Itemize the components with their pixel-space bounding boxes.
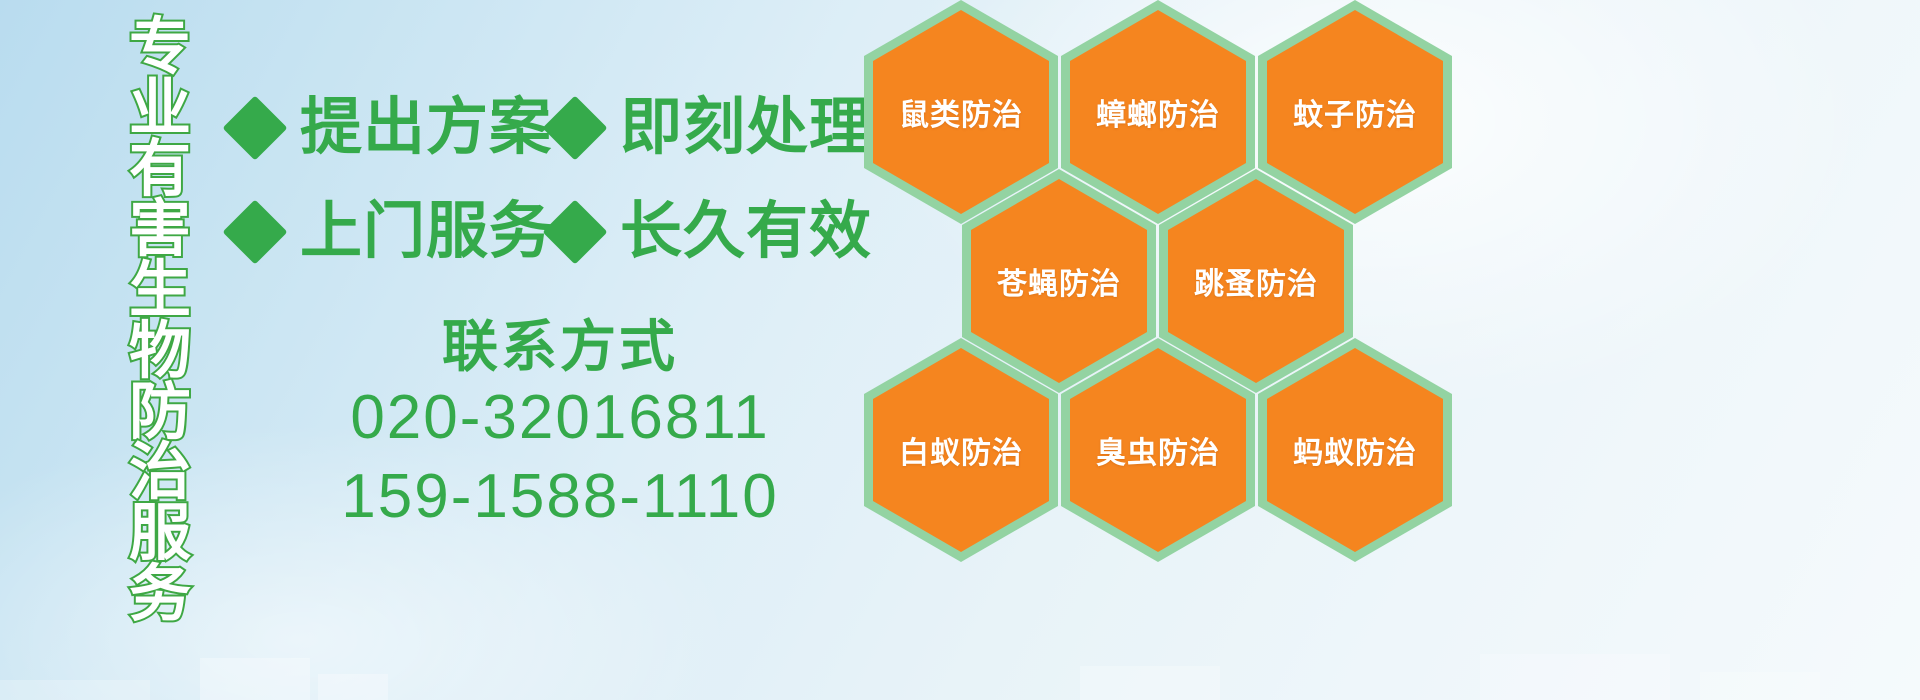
diamond-icon [542,199,607,264]
service-label: 鼠类防治 [899,90,1023,134]
service-label: 蟑螂防治 [1096,90,1220,134]
background-silhouette [1480,654,1670,700]
vertical-headline-char: 害 [129,200,191,261]
service-label: 跳蚤防治 [1194,259,1318,303]
feature-item: 上门服务 [232,201,552,263]
diamond-icon [542,95,607,160]
contact-title: 联系方式 [240,316,880,378]
vertical-headline-char: 治 [129,443,191,504]
service-label: 苍蝇防治 [997,259,1121,303]
feature-item: 提出方案 [232,97,552,159]
contact-block: 联系方式 020-32016811 159-1588-1110 [240,316,880,536]
background-silhouette [1700,672,1820,700]
feature-label: 上门服务 [300,201,552,263]
contact-phone-landline[interactable]: 020-32016811 [240,378,880,457]
feature-label: 长久有效 [620,201,872,263]
feature-row: 上门服务 长久有效 [232,180,872,284]
feature-row: 提出方案 即刻处理 [232,76,872,180]
service-label: 臭虫防治 [1096,428,1220,472]
vertical-headline-char: 业 [129,79,191,140]
feature-list: 提出方案 即刻处理 上门服务 长久有效 [232,76,872,284]
diamond-icon [222,95,287,160]
contact-phone-mobile[interactable]: 159-1588-1110 [240,457,880,536]
background-silhouette [1080,666,1220,700]
service-label: 蚊子防治 [1293,90,1417,134]
vertical-headline-char: 防 [129,383,191,444]
background-silhouette [318,674,388,700]
vertical-headline-char: 物 [129,322,191,383]
vertical-headline-char: 专 [129,18,191,79]
background-silhouette [200,658,310,700]
vertical-headline: 专 业 有 害 生 物 防 治 服 务 [112,18,208,658]
feature-item: 即刻处理 [552,97,872,159]
service-hexagon-grid: 鼠类防治 蟑螂防治 蚊子防治 苍蝇防治 跳蚤防治 白蚁防治 臭虫防治 蚂蚁 [858,0,1458,574]
vertical-headline-char: 生 [129,261,191,322]
diamond-icon [222,199,287,264]
service-label: 蚂蚁防治 [1293,428,1417,472]
feature-label: 即刻处理 [620,97,872,159]
vertical-headline-char: 有 [129,140,191,201]
feature-item: 长久有效 [552,201,872,263]
vertical-headline-char: 服 [129,504,191,565]
background-silhouette [0,680,150,700]
promo-banner: 专 业 有 害 生 物 防 治 服 务 提出方案 即刻处理 上门服务 [0,0,1920,700]
service-label: 白蚁防治 [899,428,1023,472]
vertical-headline-char: 务 [129,565,191,626]
feature-label: 提出方案 [300,97,552,159]
